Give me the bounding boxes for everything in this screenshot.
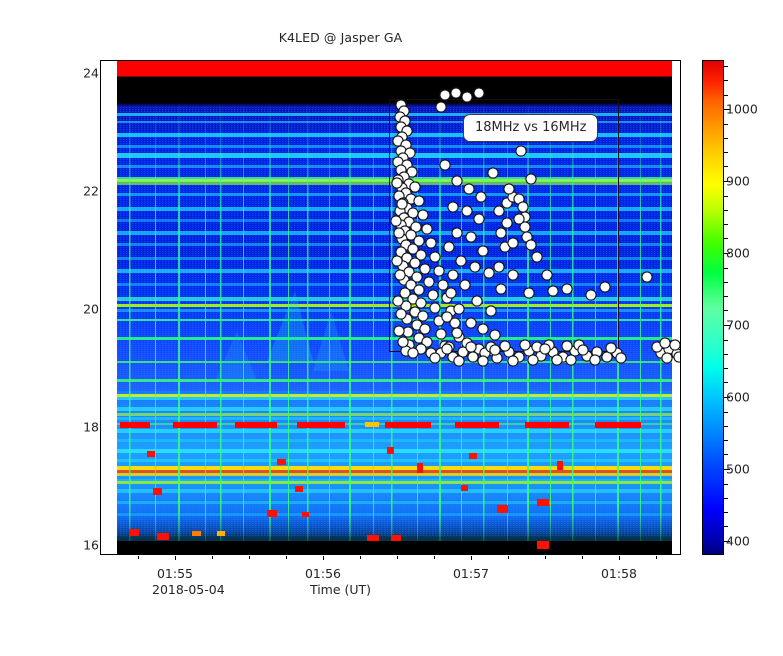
x-tick-label: 01:58 [601, 566, 637, 581]
x-tickmark-minor [434, 556, 435, 559]
colorbar-tick-label: 500 [726, 462, 750, 477]
colorbar-tickmark-minor [724, 166, 728, 167]
colorbar-tickmark-minor [724, 354, 728, 355]
colorbar[interactable] [702, 60, 724, 555]
colorbar-tickmark-minor [724, 80, 728, 81]
x-tick-label: 01:57 [453, 566, 489, 581]
colorbar-tickmark-minor [724, 66, 728, 67]
colorbar-tickmark-minor [724, 310, 728, 311]
x-tickmark-minor [545, 556, 546, 559]
y-tick-label: 16 [83, 538, 99, 553]
colorbar-tickmark-minor [724, 512, 728, 513]
colorbar-tick-label: 1000 [726, 102, 758, 117]
annotation-label[interactable]: 18MHz vs 16MHz [463, 114, 598, 142]
colorbar-tickmark-minor [724, 282, 728, 283]
x-tickmark-major [323, 556, 324, 560]
x-tickmark-minor [360, 556, 361, 559]
colorbar-tickmark-minor [724, 382, 728, 383]
colorbar-tick-label: 700 [726, 318, 750, 333]
colorbar-tick-label: 400 [726, 534, 750, 549]
colorbar-tickmark-minor [724, 124, 728, 125]
x-tickmark-major [175, 556, 176, 560]
x-tickmark-major [471, 556, 472, 560]
y-tick-label: 18 [83, 420, 99, 435]
y-tick-label: 20 [83, 302, 99, 317]
colorbar-tickmark-minor [724, 138, 728, 139]
x-tickmark-minor [286, 556, 287, 559]
x-tick-label: 01:56 [305, 566, 341, 581]
colorbar-tickmark-minor [724, 238, 728, 239]
x-tickmark-minor [249, 556, 250, 559]
colorbar-tickmark-minor [724, 224, 728, 225]
colorbar-tickmark-minor [724, 368, 728, 369]
colorbar-tick-label: 600 [726, 390, 750, 405]
colorbar-tick-label: 900 [726, 174, 750, 189]
y-tick-label: 24 [83, 66, 99, 81]
x-tick-label: 01:55 [157, 566, 193, 581]
x-tickmark-minor [212, 556, 213, 559]
colorbar-tickmark-minor [724, 296, 728, 297]
colorbar-tickmark-minor [724, 268, 728, 269]
x-tickmark-minor [656, 556, 657, 559]
x-tickmark-minor [397, 556, 398, 559]
colorbar-tickmark-minor [724, 210, 728, 211]
colorbar-tickmark-minor [724, 426, 728, 427]
x-tickmark-minor [582, 556, 583, 559]
figure-canvas: K4LED @ Jasper GA [0, 0, 783, 656]
colorbar-tickmark-minor [724, 196, 728, 197]
colorbar-tickmark-minor [724, 440, 728, 441]
colorbar-tickmark-minor [724, 498, 728, 499]
y-tick-label: 22 [83, 184, 99, 199]
colorbar-tick-label: 800 [726, 246, 750, 261]
colorbar-tickmark-minor [724, 152, 728, 153]
colorbar-tickmark-minor [724, 412, 728, 413]
chart-title: K4LED @ Jasper GA [0, 30, 681, 45]
x-axis-label: Time (UT) [0, 582, 681, 597]
x-tickmark-minor [508, 556, 509, 559]
colorbar-tickmark-minor [724, 340, 728, 341]
colorbar-tickmark-minor [724, 484, 728, 485]
colorbar-tickmark-minor [724, 526, 728, 527]
x-tickmark-minor [138, 556, 139, 559]
colorbar-tickmark-minor [724, 454, 728, 455]
x-tickmark-major [619, 556, 620, 560]
colorbar-tickmark-minor [724, 95, 728, 96]
